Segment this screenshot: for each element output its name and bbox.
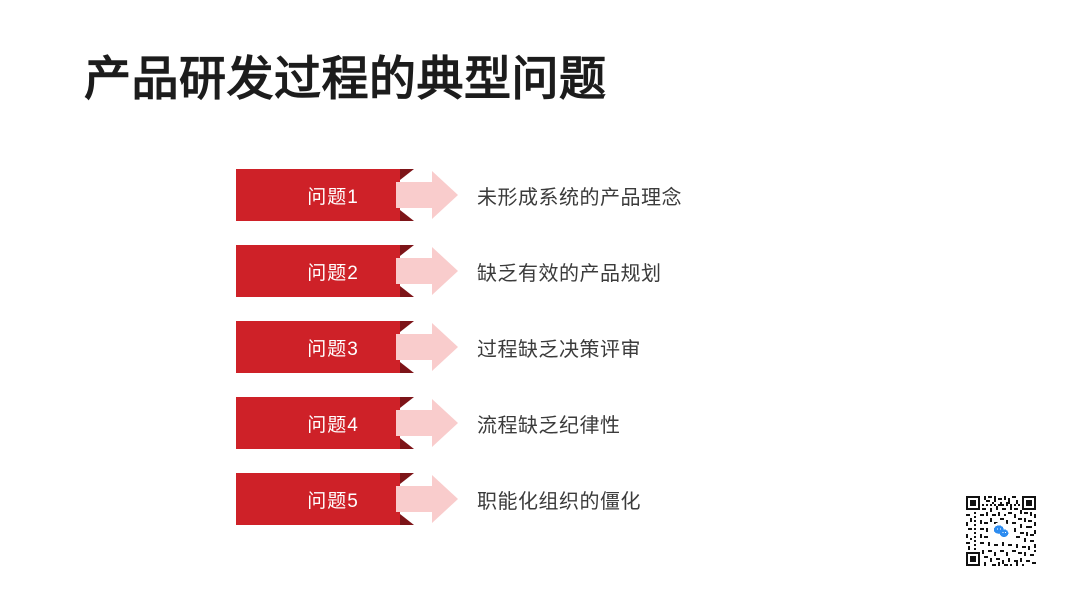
problem-chip-label: 问题1	[236, 169, 400, 221]
problem-chip-4[interactable]: 问题4	[236, 397, 400, 449]
page-title: 产品研发过程的典型问题	[84, 50, 607, 109]
list-item[interactable]: 问题2 缺乏有效的产品规划	[0, 245, 1080, 297]
problem-description: 职能化组织的僵化	[477, 473, 641, 525]
wechat-qr-code[interactable]	[962, 492, 1040, 570]
problem-chip-3[interactable]: 问题3	[236, 321, 400, 373]
arrow-right-icon	[396, 399, 458, 447]
arrow-right-icon	[396, 475, 458, 523]
problem-description: 缺乏有效的产品规划	[477, 245, 662, 297]
problem-description: 流程缺乏纪律性	[477, 397, 621, 449]
qr-code-icon	[962, 492, 1040, 570]
problem-chip-1[interactable]: 问题1	[236, 169, 400, 221]
problem-chip-label: 问题5	[236, 473, 400, 525]
problem-chip-2[interactable]: 问题2	[236, 245, 400, 297]
problem-chip-label: 问题3	[236, 321, 400, 373]
problem-chip-label: 问题4	[236, 397, 400, 449]
arrow-right-icon	[396, 323, 458, 371]
arrow-right-icon	[396, 247, 458, 295]
problem-description: 过程缺乏决策评审	[477, 321, 641, 373]
slide-canvas: 产品研发过程的典型问题 问题1 未形成系统的产品理念 问题2	[0, 0, 1080, 608]
problem-list: 问题1 未形成系统的产品理念 问题2 缺乏有效的产品规划	[0, 169, 1080, 525]
problem-description: 未形成系统的产品理念	[477, 169, 682, 221]
problem-chip-5[interactable]: 问题5	[236, 473, 400, 525]
list-item[interactable]: 问题1 未形成系统的产品理念	[0, 169, 1080, 221]
list-item[interactable]: 问题5 职能化组织的僵化	[0, 473, 1080, 525]
arrow-right-icon	[396, 171, 458, 219]
list-item[interactable]: 问题4 流程缺乏纪律性	[0, 397, 1080, 449]
list-item[interactable]: 问题3 过程缺乏决策评审	[0, 321, 1080, 373]
problem-chip-label: 问题2	[236, 245, 400, 297]
